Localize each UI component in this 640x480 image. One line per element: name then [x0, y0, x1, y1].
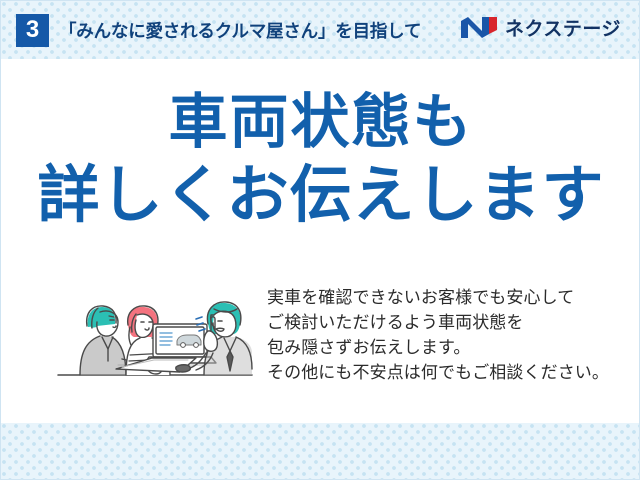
body-text-line-4: その他にも不安点は何でもご相談ください。	[267, 360, 627, 385]
footer-band	[1, 423, 640, 480]
body-text-line-2: ご検討いただけるよう車両状態を	[267, 310, 627, 335]
consultation-illustration	[56, 279, 256, 397]
body-text: 実車を確認できないお客様でも安心して ご検討いただけるよう車両状態を 包み隠さず…	[267, 285, 627, 385]
headline: 車両状態も 詳しくお伝えします	[1, 93, 640, 227]
promo-banner: 3 「みんなに愛されるクルマ屋さん」を目指して 車両状態も 詳しくお伝えします	[0, 0, 640, 480]
body-text-line-3: 包み隠さずお伝えします。	[267, 335, 627, 360]
body-text-line-1: 実車を確認できないお客様でも安心して	[267, 285, 627, 310]
brand-logo: ネクステージ	[459, 12, 621, 42]
step-number-badge: 3	[16, 14, 49, 47]
headline-line-2: 詳しくお伝えします	[1, 165, 640, 227]
body-area: 実車を確認できないお客様でも安心して ご検討いただけるよう車両状態を 包み隠さず…	[1, 277, 640, 407]
nextage-n-logo-icon	[459, 14, 499, 41]
brand-logo-text: ネクステージ	[505, 14, 621, 41]
headline-line-1: 車両状態も	[1, 93, 640, 152]
header-title: 「みんなに愛されるクルマ屋さん」を目指して	[59, 18, 421, 43]
